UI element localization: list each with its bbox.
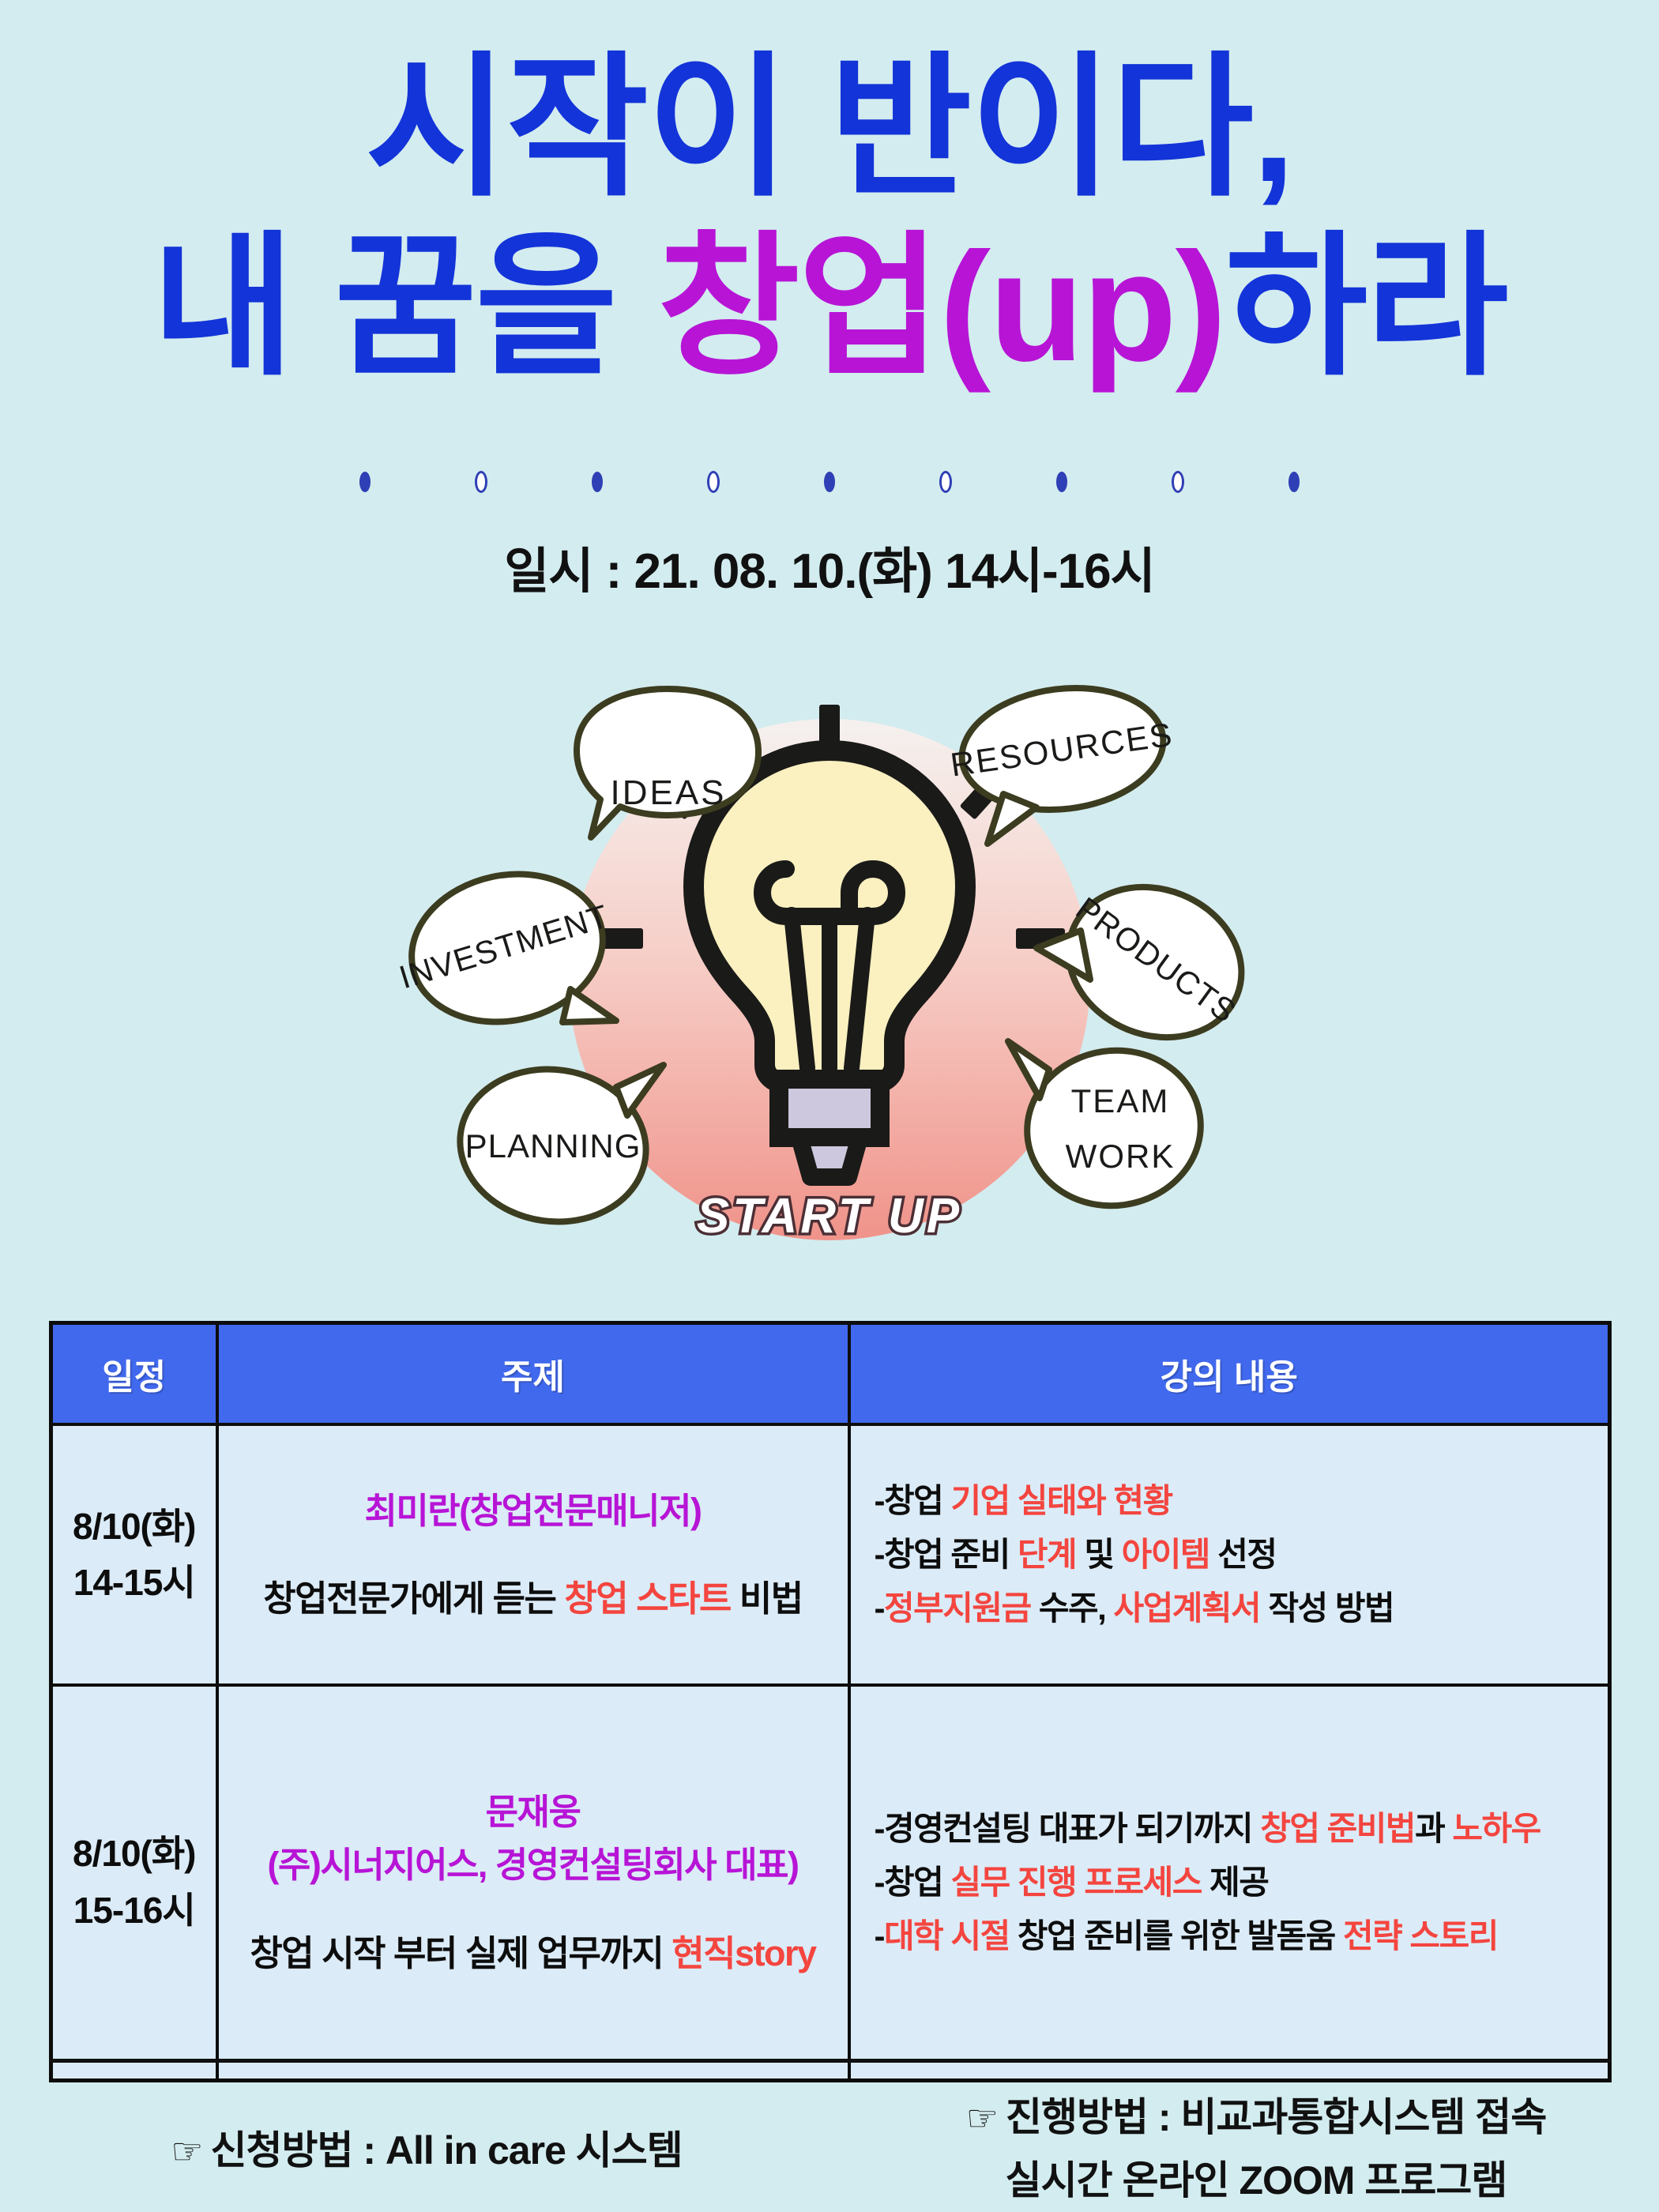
row1-b2-d: 아이템 — [1122, 1536, 1209, 1573]
row1-b2-c: 및 — [1076, 1536, 1121, 1573]
bubble-teamwork: TEAM WORK — [1008, 1040, 1211, 1217]
row2-time: 15-16시 — [54, 1883, 215, 1939]
footer-right-block: ☞진행방법 : 비교과통합시스템 접속 실시간 온라인 ZOOM 프로그램 — [853, 2086, 1659, 2212]
svg-text:PLANNING: PLANNING — [465, 1127, 641, 1164]
row1-schedule-cell: 8/10(화) 14-15시 — [51, 1424, 217, 1685]
row2-b3-c: 창업 준비를 위한 발돋움 — [1010, 1917, 1343, 1954]
row1-spacer — [233, 1537, 833, 1572]
event-date: 일시 : 21. 08. 10.(화) 14시-16시 — [0, 531, 1659, 602]
row1-content-cell: -창업 기업 실태와 현황 -창업 준비 단계 및 아이템 선정 -정부지원금 … — [849, 1424, 1610, 1685]
row2-speaker-name: 문재웅 — [233, 1785, 833, 1839]
table-row: 8/10(화) 15-16시 문재웅 (주)시너지어스, 경영컨설팅회사 대표)… — [51, 1685, 1610, 2080]
row1-b2-a: -창업 준비 — [875, 1536, 1018, 1573]
poster-title: 시작이 반이다, 내 꿈을 창업(up)하라 — [0, 38, 1659, 397]
row1-bullet-3: -정부지원금 수주, 사업계획서 작성 방법 — [875, 1582, 1591, 1635]
apply-method-text: 신청방법 : All in care 시스템 — [210, 2128, 682, 2172]
divider-dot — [359, 472, 371, 492]
poster-footer: ☞신청방법 : All in care 시스템 ☞진행방법 : 비교과통합시스템… — [0, 2086, 1659, 2212]
divider-dot — [1056, 472, 1067, 492]
column-header-schedule: 일정 — [51, 1323, 217, 1425]
row1-desc-pre: 창업전문가에게 듣는 — [263, 1578, 564, 1619]
row1-b3-e: 작성 방법 — [1260, 1589, 1394, 1627]
row2-b2-b: 실무 진행 프로세스 — [950, 1864, 1201, 1901]
title-line-1: 시작이 반이다, — [0, 38, 1659, 217]
divider-dot — [707, 471, 720, 493]
column-header-topic: 주제 — [217, 1323, 849, 1425]
svg-text:WORK: WORK — [1066, 1138, 1176, 1175]
divider-dot — [1172, 471, 1184, 493]
row1-topic-cell: 최미란(창업전문매니저) 창업전문가에게 듣는 창업 스타트 비법 — [217, 1424, 849, 1685]
footer-left-block: ☞신청방법 : All in care 시스템 — [0, 2086, 853, 2182]
row2-date: 8/10(화) — [54, 1826, 215, 1882]
row1-date: 8/10(화) — [54, 1499, 215, 1555]
row1-b3-b: 정부지원금 — [884, 1589, 1031, 1627]
svg-text:IDEAS: IDEAS — [610, 773, 726, 812]
row2-b1-a: -경영컨설팅 대표가 되기까지 — [875, 1810, 1261, 1847]
row2-bullet-3: -대학 시절 창업 준비를 위한 발돋움 전략 스토리 — [875, 1909, 1591, 1963]
divider-dot — [475, 471, 487, 493]
row2-content-cell: -경영컨설팅 대표가 되기까지 창업 준비법과 노하우 -창업 실무 진행 프로… — [849, 1685, 1610, 2080]
row1-bullet-1: -창업 기업 실태와 현황 — [875, 1474, 1591, 1528]
title-line-2-part-b: 창업(up) — [657, 220, 1225, 393]
column-header-content: 강의 내용 — [849, 1323, 1610, 1425]
pointing-hand-icon: ☞ — [966, 2097, 998, 2139]
row2-b2-a: -창업 — [875, 1864, 951, 1901]
row2-bullet-2: -창업 실무 진행 프로세스 제공 — [875, 1856, 1591, 1909]
title-line-2: 내 꿈을 창업(up)하라 — [0, 217, 1659, 397]
row1-b3-d: 사업계획서 — [1114, 1589, 1261, 1627]
row1-desc-highlight: 창업 스타트 — [564, 1578, 731, 1619]
row1-b1-a: -창업 — [875, 1482, 951, 1519]
row2-schedule-cell: 8/10(화) 15-16시 — [51, 1685, 217, 2080]
dot-divider — [0, 471, 1659, 493]
row2-speaker-title: (주)시너지어스, 경영컨설팅회사 대표) — [233, 1838, 833, 1892]
divider-dot — [1288, 472, 1300, 492]
divider-dot — [824, 472, 835, 492]
bubble-planning: PLANNING — [450, 1058, 664, 1234]
row2-b3-a: - — [875, 1917, 885, 1954]
bubble-investment: INVESTMENT — [395, 857, 616, 1040]
row1-b2-b: 단계 — [1018, 1536, 1076, 1573]
start-up-label: START UP — [697, 1189, 962, 1243]
row1-time: 14-15시 — [54, 1555, 215, 1611]
divider-dot — [592, 472, 603, 492]
table-header-row: 일정 주제 강의 내용 — [51, 1323, 1610, 1425]
row2-b1-c: 과 — [1415, 1810, 1452, 1847]
row2-topic-cell: 문재웅 (주)시너지어스, 경영컨설팅회사 대표) 창업 시작 부터 실제 업무… — [217, 1685, 849, 2080]
table-row: 8/10(화) 14-15시 최미란(창업전문매니저) 창업전문가에게 듣는 창… — [51, 1424, 1610, 1685]
schedule-table: 일정 주제 강의 내용 8/10(화) 14-15시 최미란(창업전문매니저) … — [49, 1321, 1612, 2082]
title-line-2-part-c: 하라 — [1225, 220, 1507, 393]
row1-description: 창업전문가에게 듣는 창업 스타트 비법 — [233, 1572, 833, 1626]
apply-method-line: ☞신청방법 : All in care 시스템 — [0, 2119, 853, 2182]
startup-illustration: START UP IDEAS RESOURCES INVESTMENT — [0, 632, 1659, 1296]
row2-b3-d: 전략 스토리 — [1343, 1917, 1498, 1954]
row1-desc-post: 비법 — [731, 1578, 803, 1619]
row1-bullet-2: -창업 준비 단계 및 아이템 선정 — [875, 1528, 1591, 1582]
row1-b2-e: 선정 — [1209, 1536, 1276, 1573]
row2-bullet-1: -경영컨설팅 대표가 되기까지 창업 준비법과 노하우 — [875, 1802, 1591, 1856]
title-line-2-part-a: 내 꿈을 — [152, 220, 657, 393]
row2-spacer — [233, 1892, 833, 1927]
row2-desc-highlight: 현직story — [671, 1933, 815, 1973]
row1-speaker: 최미란(창업전문매니저) — [233, 1484, 833, 1538]
session-method-line: ☞진행방법 : 비교과통합시스템 접속 — [853, 2086, 1659, 2149]
row2-b1-b: 창업 준비법 — [1260, 1810, 1415, 1847]
footer-divider — [49, 2059, 1612, 2063]
row2-desc-pre: 창업 시작 부터 실제 업무까지 — [250, 1933, 671, 1973]
poster-root: 시작이 반이다, 내 꿈을 창업(up)하라 일시 : 21. 08. 10.(… — [0, 0, 1659, 2212]
row1-b3-a: - — [875, 1589, 885, 1627]
zoom-program-line: 실시간 온라인 ZOOM 프로그램 — [853, 2149, 1659, 2212]
row2-b2-c: 제공 — [1202, 1864, 1268, 1901]
row2-b1-d: 노하우 — [1452, 1810, 1540, 1847]
row1-b1-b: 기업 실태와 현황 — [950, 1482, 1172, 1519]
schedule-table-wrapper: 일정 주제 강의 내용 8/10(화) 14-15시 최미란(창업전문매니저) … — [49, 1321, 1612, 2082]
row2-b3-b: 대학 시절 — [884, 1917, 1010, 1954]
row2-description: 창업 시작 부터 실제 업무까지 현직story — [233, 1927, 833, 1981]
session-method-text: 진행방법 : 비교과통합시스템 접속 — [1006, 2095, 1546, 2139]
row1-b3-c: 수주, — [1031, 1589, 1114, 1627]
svg-text:TEAM: TEAM — [1071, 1082, 1170, 1119]
divider-dot — [939, 471, 952, 493]
pointing-hand-icon: ☞ — [171, 2131, 202, 2172]
